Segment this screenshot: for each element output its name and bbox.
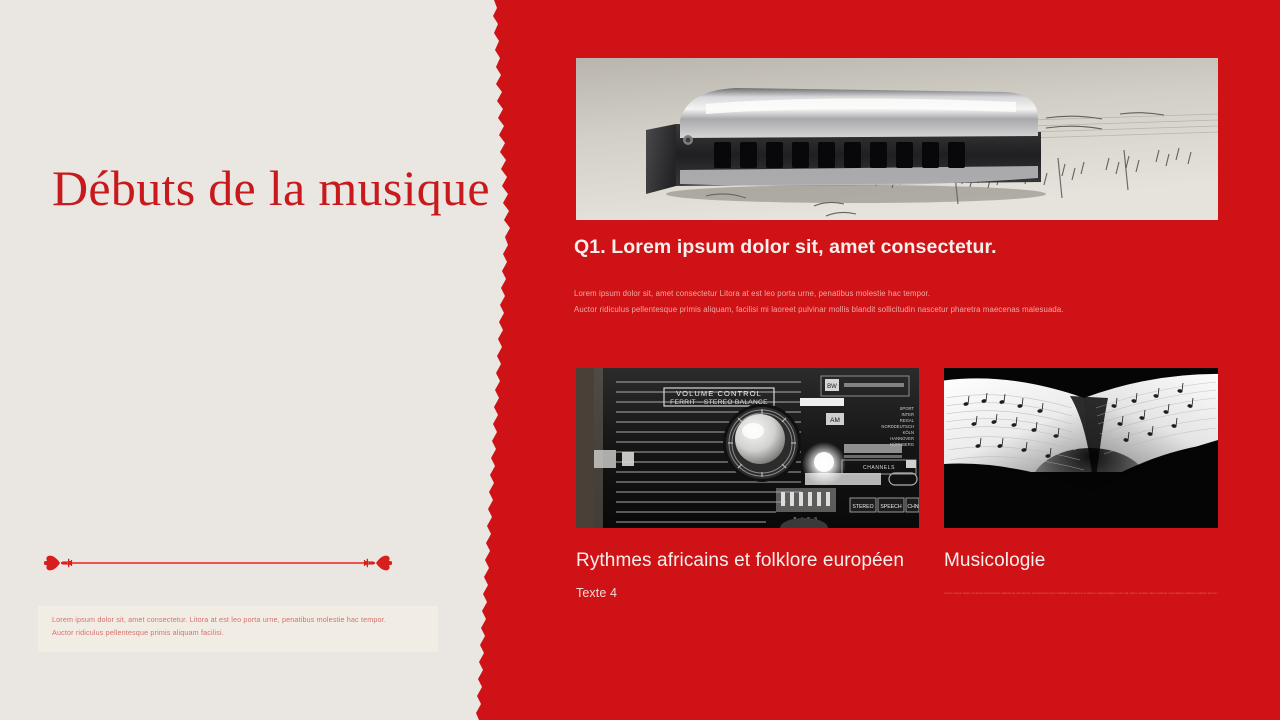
svg-text:AM: AM — [830, 417, 840, 424]
open-music-score-book-image — [944, 368, 1218, 528]
card-musicologie[interactable]: Musicologie Lorem ipsum dolor sit amet c… — [944, 368, 1218, 596]
harmonica-on-sheet-music-image — [576, 58, 1218, 220]
svg-text:SPORT: SPORT — [900, 406, 915, 411]
card-micro-text: Lorem ipsum dolor sit amet consectetur a… — [944, 591, 1218, 596]
card-title: Musicologie — [944, 550, 1218, 573]
section-heading: Q1. Lorem ipsum dolor sit, amet consecte… — [574, 236, 1234, 259]
section-body: Lorem ipsum dolor sit, amet consectetur … — [574, 286, 1214, 318]
left-note-line-2: Auctor ridiculus pellentesque primis ali… — [52, 627, 424, 640]
slide: Débuts de la musique — [0, 0, 1280, 720]
svg-text:STEREO: STEREO — [852, 504, 873, 510]
left-note-line-1: Lorem ipsum dolor sit, amet consectetur.… — [52, 614, 424, 627]
svg-text:CHANNELS: CHANNELS — [863, 465, 895, 471]
svg-text:KÖLN: KÖLN — [903, 430, 914, 435]
svg-text:FERRIT – STEREO BALANCE: FERRIT – STEREO BALANCE — [670, 399, 768, 406]
page-title: Débuts de la musique — [52, 160, 472, 218]
svg-text:NORDDEUTSCH: NORDDEUTSCH — [881, 424, 914, 429]
svg-text:CHN: CHN — [907, 504, 918, 510]
svg-text:INTER: INTER — [901, 412, 914, 417]
svg-text:VOLUME CONTROL: VOLUME CONTROL — [676, 389, 762, 398]
section-body-line-2: Auctor ridiculus pellentesque primis ali… — [574, 302, 1214, 318]
left-note-text: Lorem ipsum dolor sit, amet consectetur.… — [52, 614, 424, 639]
svg-text:BW: BW — [827, 384, 837, 390]
svg-text:HANNOVER: HANNOVER — [890, 436, 914, 441]
svg-text:REGAL: REGAL — [900, 418, 915, 423]
vintage-radio-image: VOLUME CONTROL FERRIT – STEREO BALANCE — [576, 368, 919, 528]
svg-text:SPEECH: SPEECH — [880, 504, 902, 510]
section-body-line-1: Lorem ipsum dolor sit, amet consectetur … — [574, 286, 1214, 302]
card-rythmes-africains[interactable]: VOLUME CONTROL FERRIT – STEREO BALANCE — [576, 368, 919, 600]
fleur-de-lis-divider — [44, 550, 392, 576]
card-title: Rythmes africains et folklore européen — [576, 550, 919, 573]
card-subtitle: Texte 4 — [576, 586, 919, 600]
